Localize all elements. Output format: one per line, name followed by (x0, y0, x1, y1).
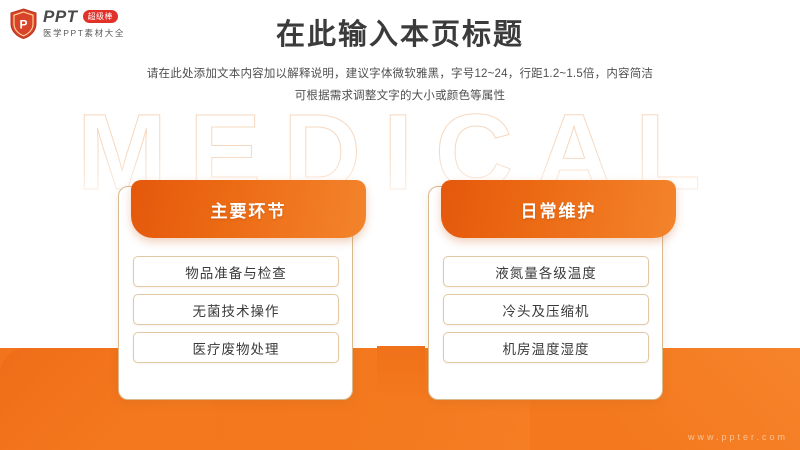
card-daily-maintenance[interactable]: 日常维护 液氮量各级温度 冷头及压缩机 机房温度湿度 (428, 186, 663, 400)
card-header-title-left: 主要环节 (211, 197, 287, 222)
list-item[interactable]: 医疗废物处理 (133, 332, 339, 363)
card-header-banner-right: 日常维护 (441, 180, 676, 238)
card-main-steps[interactable]: 主要环节 物品准备与检查 无菌技术操作 医疗废物处理 (118, 186, 353, 400)
band-middle-block (377, 346, 425, 398)
card-header-banner-left: 主要环节 (131, 180, 366, 238)
card-list-right: 液氮量各级温度 冷头及压缩机 机房温度湿度 (443, 256, 649, 363)
page-subtitle-line-2: 可根据需求调整文字的大小或颜色等属性 (0, 86, 800, 108)
page-subtitle: 请在此处添加文本内容加以解释说明，建议字体微软雅黑，字号12~24，行距1.2~… (0, 64, 800, 108)
list-item[interactable]: 无菌技术操作 (133, 294, 339, 325)
list-item[interactable]: 机房温度湿度 (443, 332, 649, 363)
list-item[interactable]: 物品准备与检查 (133, 256, 339, 287)
list-item[interactable]: 冷头及压缩机 (443, 294, 649, 325)
page-title: 在此输入本页标题 (0, 16, 800, 55)
page-subtitle-line-1: 请在此处添加文本内容加以解释说明，建议字体微软雅黑，字号12~24，行距1.2~… (0, 64, 800, 86)
list-item[interactable]: 液氮量各级温度 (443, 256, 649, 287)
slide-canvas: MEDICAL www.ppter.com P PPT 超级棒 医学PPT素材大… (0, 0, 800, 450)
card-list-left: 物品准备与检查 无菌技术操作 医疗废物处理 (133, 256, 339, 363)
site-watermark: www.ppter.com (688, 432, 788, 442)
card-header-title-right: 日常维护 (521, 197, 597, 222)
